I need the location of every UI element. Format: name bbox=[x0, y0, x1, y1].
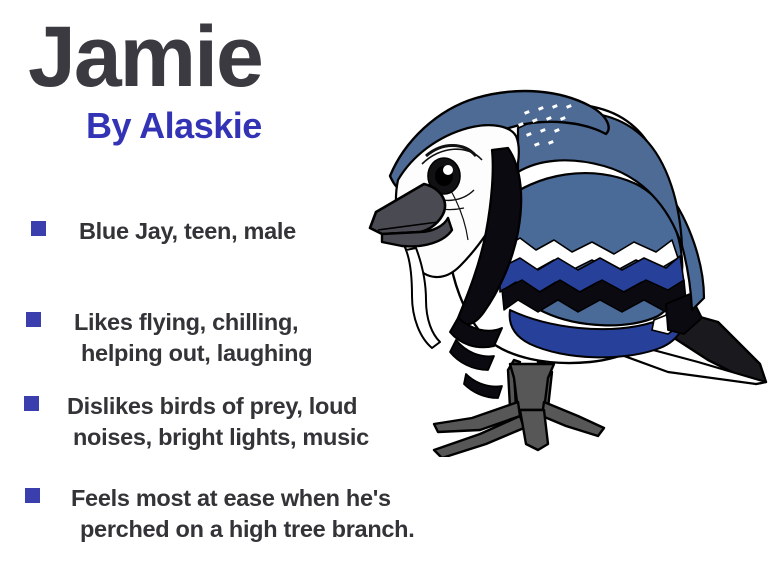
blue-jay-illustration bbox=[368, 72, 772, 457]
bullet-line-1: Feels most at ease when he's bbox=[71, 485, 391, 511]
bullet-line-1: Likes flying, chilling, bbox=[74, 309, 298, 335]
bullet-item-comfort: Feels most at ease when he's perched on … bbox=[25, 488, 414, 545]
bullet-line-1: Dislikes birds of prey, loud bbox=[67, 393, 357, 419]
breast-bar-2 bbox=[464, 374, 502, 398]
bullet-square-icon bbox=[31, 221, 46, 236]
bullet-line-2: noises, bright lights, music bbox=[73, 422, 369, 453]
character-reference-sheet: Jamie By Alaskie Blue Jay, teen, male Li… bbox=[0, 0, 772, 581]
bullet-square-icon bbox=[26, 312, 41, 327]
foot-toes-right bbox=[542, 402, 604, 436]
bullet-item-species: Blue Jay, teen, male bbox=[31, 221, 296, 247]
eye-highlight bbox=[443, 165, 453, 175]
bullet-line-1: Blue Jay, teen, male bbox=[79, 218, 296, 244]
page-title: Jamie bbox=[28, 14, 262, 100]
bullet-text: Blue Jay, teen, male bbox=[79, 216, 296, 247]
bullet-text: Feels most at ease when he's perched on … bbox=[71, 483, 414, 545]
foot-toe-center bbox=[520, 410, 548, 450]
bullet-line-2: perched on a high tree branch. bbox=[80, 514, 414, 545]
bullet-item-dislikes: Dislikes birds of prey, loud noises, bri… bbox=[24, 396, 369, 453]
byline-credit: By Alaskie bbox=[86, 108, 262, 144]
bullet-text: Dislikes birds of prey, loud noises, bri… bbox=[67, 391, 369, 453]
bullet-text: Likes flying, chilling, helping out, lau… bbox=[74, 307, 312, 369]
bullet-line-2: helping out, laughing bbox=[81, 338, 312, 369]
bullet-square-icon bbox=[25, 488, 40, 503]
blue-jay-vector bbox=[368, 72, 772, 457]
bullet-square-icon bbox=[24, 396, 39, 411]
bullet-item-likes: Likes flying, chilling, helping out, lau… bbox=[26, 312, 312, 369]
